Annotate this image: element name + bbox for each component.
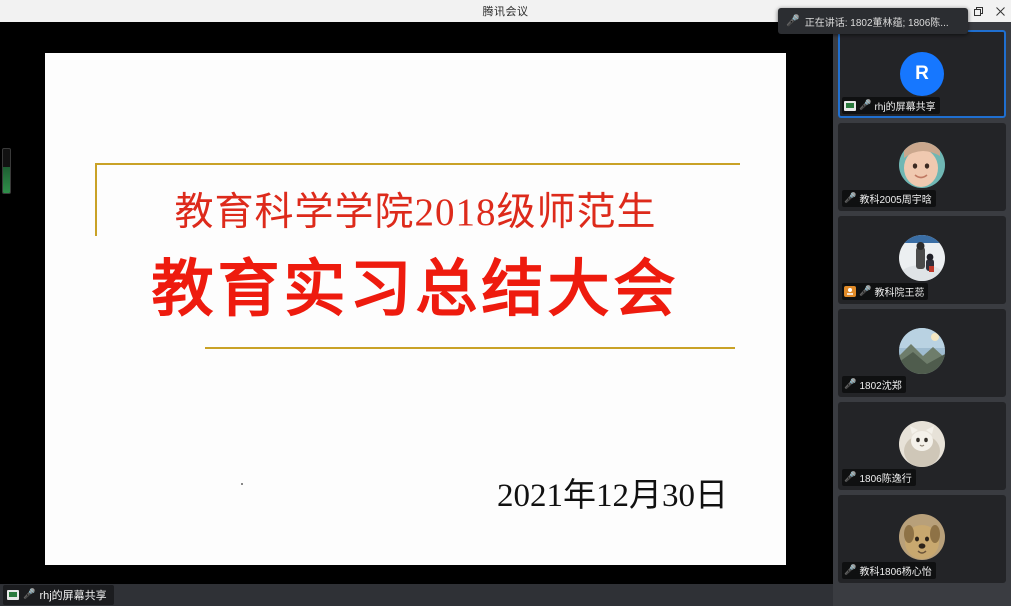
participant-name: 教科院王蕊	[874, 284, 924, 299]
shared-screen-stage[interactable]: 教育科学学院2018级师范生 教育实习总结大会 2021年12月30日	[0, 22, 833, 584]
status-bar: 🎤 rhj的屏幕共享	[0, 584, 833, 606]
participant-name: 1802沈郑	[859, 377, 901, 392]
screen-share-icon	[7, 590, 19, 600]
participant-footer: 🎤 教科院王蕊	[842, 283, 928, 300]
participant-tile[interactable]: 🎤 教科1806杨心怡	[838, 495, 1006, 583]
volume-level-indicator[interactable]	[2, 148, 11, 194]
avatar-image	[899, 328, 945, 374]
participant-footer: 🎤 1802沈郑	[842, 376, 906, 393]
microphone-muted-icon: 🎤	[844, 380, 856, 390]
participant-footer: 🎤 rhj的屏幕共享	[842, 97, 940, 114]
slide-subtitle: 教育科学学院2018级师范生	[45, 181, 786, 237]
speaking-toast: 🎤 正在讲话: 1802董林蕴; 1806陈...	[778, 8, 968, 34]
slide-title: 教育实习总结大会	[45, 238, 786, 328]
host-badge-icon	[844, 286, 856, 297]
microphone-muted-icon: 🎤	[844, 473, 856, 483]
microphone-muted-icon: 🎤	[844, 566, 856, 576]
microphone-muted-icon: 🎤	[23, 590, 35, 600]
avatar	[899, 142, 945, 188]
screen-share-status-chip[interactable]: 🎤 rhj的屏幕共享	[3, 585, 114, 605]
participant-footer: 🎤 1806陈逸行	[842, 469, 916, 486]
slide-gold-rule	[205, 347, 735, 349]
participant-name: rhj的屏幕共享	[874, 98, 935, 113]
participant-footer: 🎤 教科2005周宇晗	[842, 190, 936, 207]
participant-tile[interactable]: 🎤 1806陈逸行	[838, 402, 1006, 490]
avatar	[899, 421, 945, 467]
participant-tile[interactable]: 🎤 教科院王蕊	[838, 216, 1006, 304]
microphone-muted-icon: 🎤	[844, 194, 856, 204]
tencent-meeting-window: 腾讯会议 🎤 正在讲话: 1802董林蕴; 1806陈...	[0, 0, 1011, 606]
avatar	[899, 235, 945, 281]
participant-name: 教科1806杨心怡	[859, 563, 931, 578]
participant-rail[interactable]: R 🎤 rhj的屏幕共享 🎤 教科2005周	[833, 22, 1011, 606]
close-button[interactable]	[989, 0, 1011, 22]
presentation-slide: 教育科学学院2018级师范生 教育实习总结大会 2021年12月30日	[45, 53, 786, 565]
screen-share-icon	[844, 101, 856, 111]
participant-name: 1806陈逸行	[859, 470, 911, 485]
avatar	[899, 514, 945, 560]
avatar-image	[899, 142, 945, 188]
participant-tile[interactable]: 🎤 1802沈郑	[838, 309, 1006, 397]
participant-tile[interactable]: 🎤 教科2005周宇晗	[838, 123, 1006, 211]
screen-share-status-label: rhj的屏幕共享	[39, 587, 106, 603]
participant-name: 教科2005周宇晗	[859, 191, 931, 206]
avatar	[899, 328, 945, 374]
volume-level-fill	[3, 167, 10, 193]
slide-date: 2021年12月30日	[497, 468, 728, 516]
restore-button[interactable]	[967, 0, 989, 22]
speaking-toast-text: 正在讲话: 1802董林蕴; 1806陈...	[805, 14, 949, 29]
participant-tile[interactable]: R 🎤 rhj的屏幕共享	[838, 30, 1006, 118]
window-title: 腾讯会议	[483, 3, 529, 19]
participant-footer: 🎤 教科1806杨心怡	[842, 562, 936, 579]
avatar-image	[899, 235, 945, 281]
microphone-icon: 🎤	[786, 16, 800, 27]
microphone-muted-icon: 🎤	[859, 101, 871, 111]
avatar-image	[899, 421, 945, 467]
avatar: R	[900, 52, 944, 96]
microphone-muted-icon: 🎤	[859, 287, 871, 297]
slide-decoration-dot	[241, 483, 243, 485]
avatar-image	[899, 514, 945, 560]
